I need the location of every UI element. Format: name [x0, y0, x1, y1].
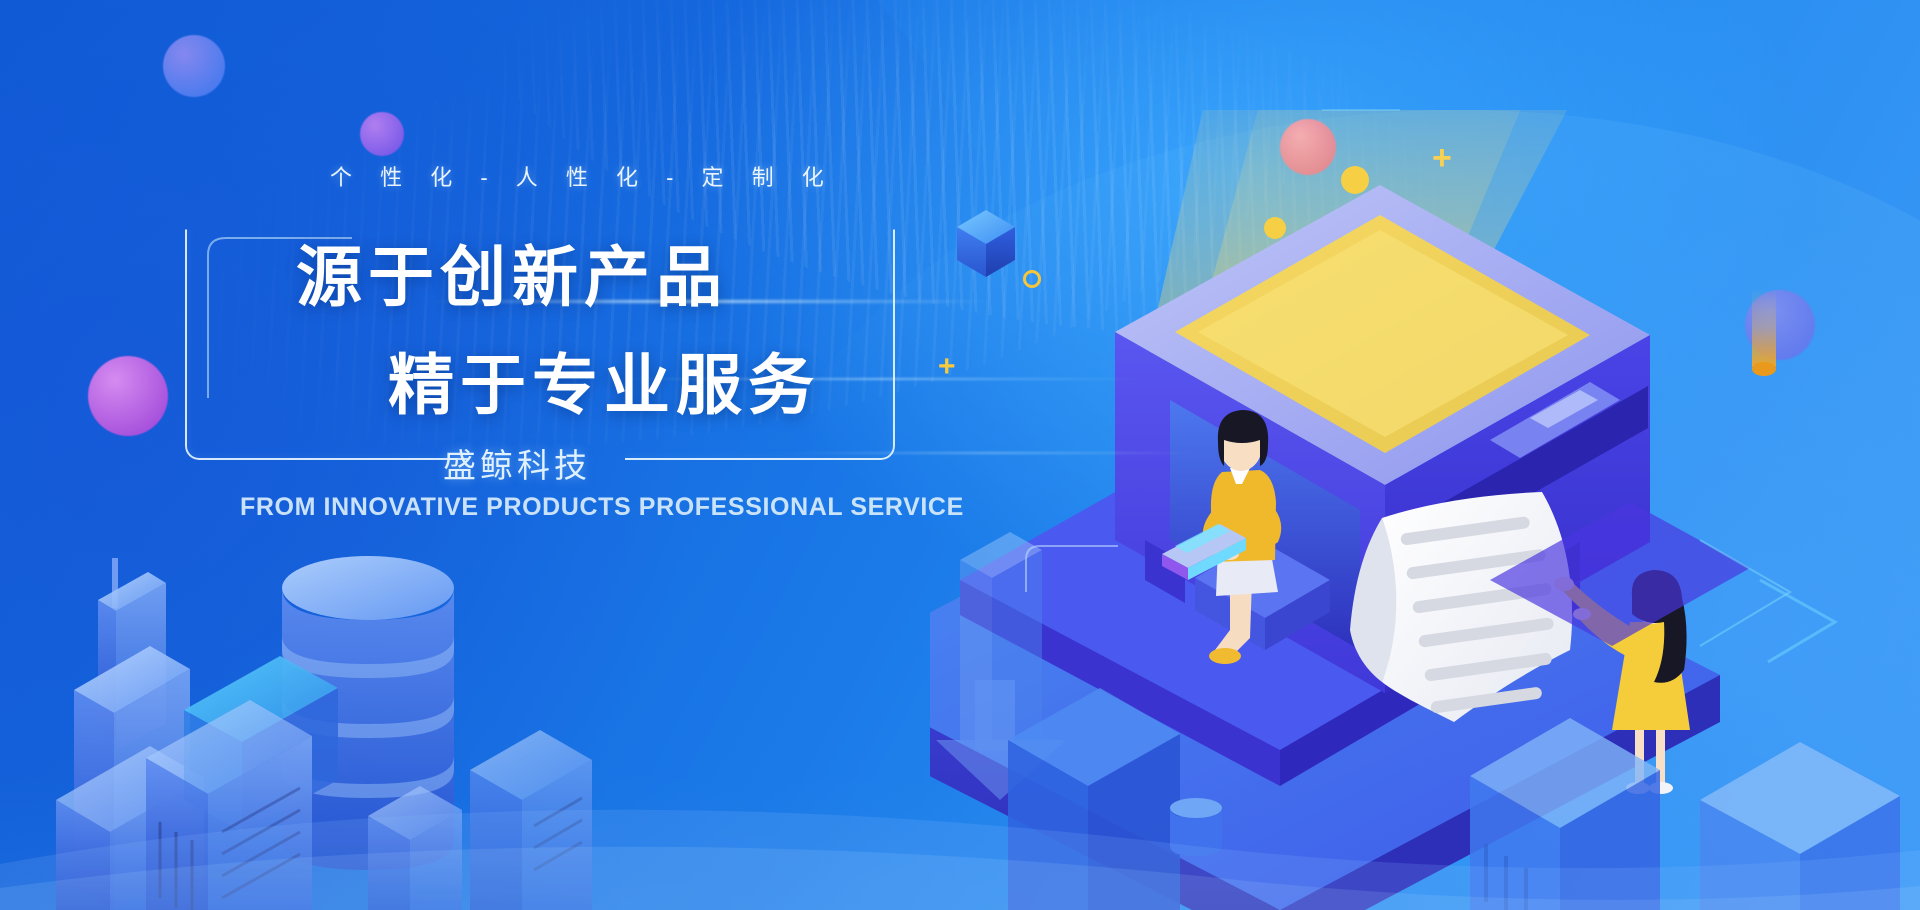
hero-headline-line1: 源于创新产品 [296, 244, 728, 310]
hero-text-block: 个 性 化 - 人 性 化 - 定 制 化 源于创新产品 精于专业服务 盛鲸科技… [0, 0, 960, 910]
brand-name: 盛鲸科技 [443, 439, 591, 487]
hero-banner: + + + [0, 0, 1920, 910]
hero-headline-line2: 精于专业服务 [388, 352, 820, 418]
hero-tagline: 个 性 化 - 人 性 化 - 定 制 化 [330, 160, 835, 192]
hero-english-subtitle: FROM INNOVATIVE PRODUCTS PROFESSIONAL SE… [240, 493, 964, 522]
